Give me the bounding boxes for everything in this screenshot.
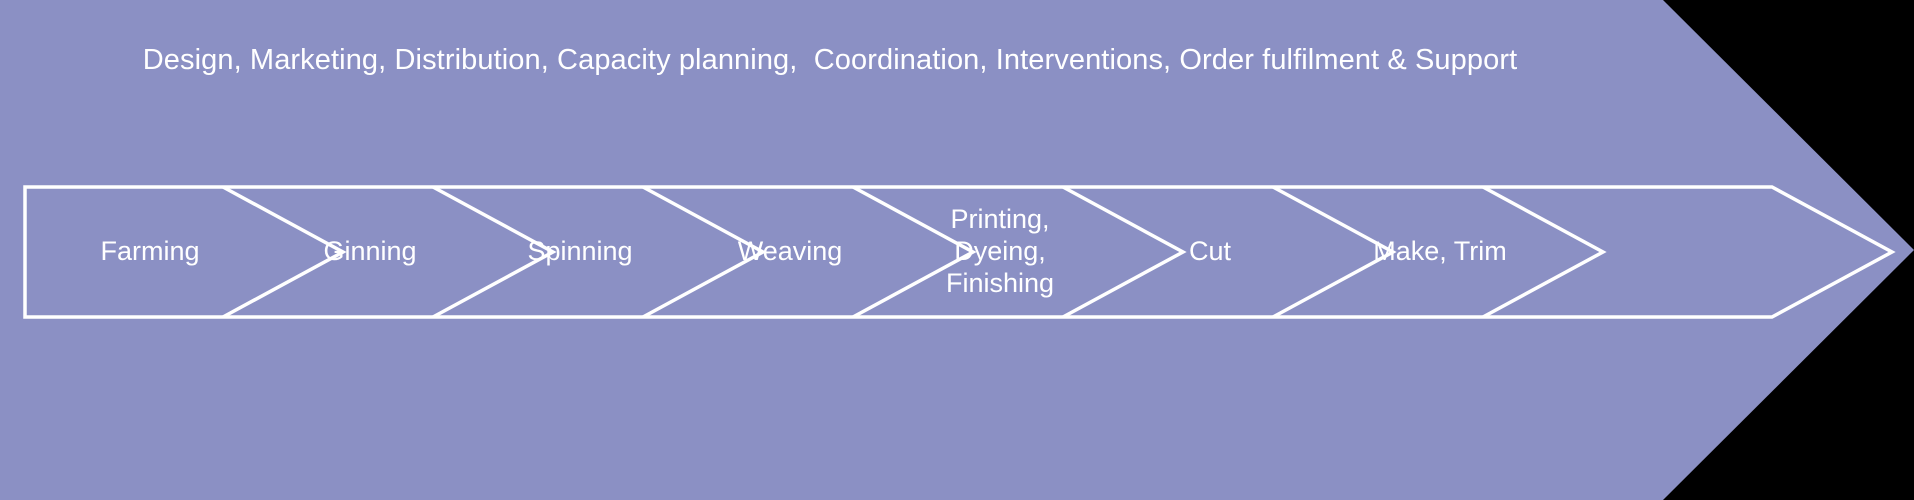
- process-diagram: [0, 0, 1914, 500]
- banner-arrow-shape: [0, 0, 1914, 500]
- diagram-canvas: Design, Marketing, Distribution, Capacit…: [0, 0, 1914, 500]
